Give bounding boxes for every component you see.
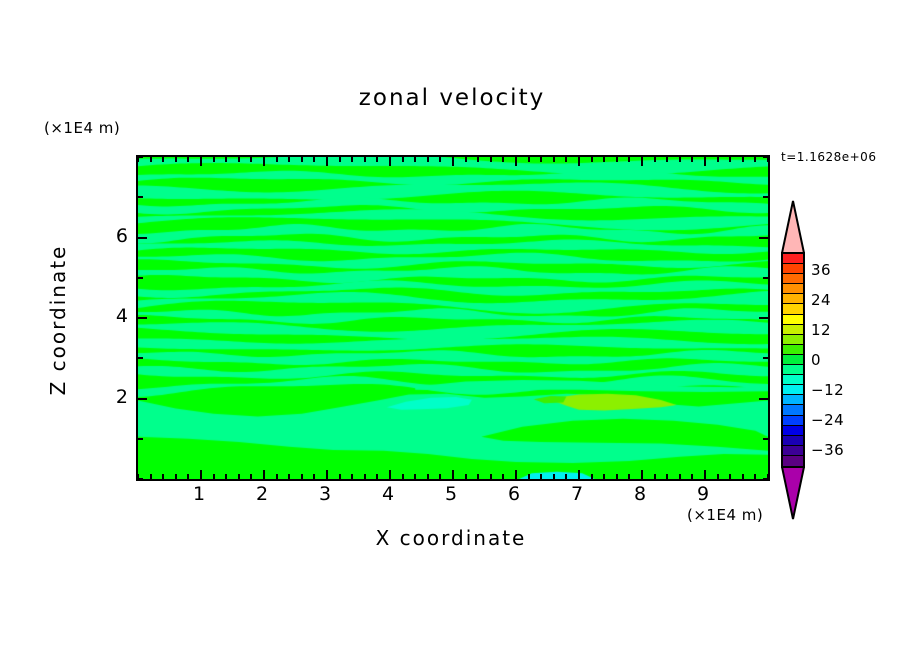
colorbar-band [783,446,803,456]
tick-mark [326,470,328,479]
tick-mark [591,474,593,479]
tick-mark [187,157,189,162]
colorbar-tick-label: 36 [811,261,831,279]
tick-mark [691,157,693,162]
tick-mark [759,398,768,400]
tick-mark [200,157,202,166]
colorbar-tick-label: −24 [811,411,844,429]
colorbar-tick-label: −12 [811,381,844,399]
tick-mark [150,474,152,479]
tick-mark [591,157,593,162]
tick-mark [339,157,341,162]
tick-mark [502,157,504,162]
colorbar-band [783,385,803,395]
colorbar-band [783,254,803,264]
tick-mark [763,478,768,480]
tick-mark [502,474,504,479]
tick-mark [427,157,429,162]
tick-mark [704,470,706,479]
tick-mark [490,474,492,479]
tick-mark [763,438,768,440]
colorbar-band [783,426,803,436]
tick-mark [477,157,479,162]
tick-mark [763,156,768,158]
tick-mark [641,157,643,166]
colorbar-band [783,264,803,274]
colorbar-band [783,345,803,355]
tick-mark [213,474,215,479]
colorbar-band [783,274,803,284]
tick-mark [175,474,177,479]
colorbar-band [783,315,803,325]
tick-mark [704,157,706,166]
tick-mark [452,470,454,479]
tick-mark [679,474,681,479]
tick-mark [616,157,618,162]
tick-mark [276,474,278,479]
x-tick-label: 3 [319,483,331,505]
tick-mark [754,157,756,162]
y-tick-label: 6 [106,225,128,247]
tick-mark [515,470,517,479]
x-tick-label: 8 [634,483,646,505]
tick-mark [138,398,147,400]
tick-mark [263,470,265,479]
colorbar-tick-label: 12 [811,321,831,339]
tick-mark [628,474,630,479]
tick-mark [175,157,177,162]
tick-mark [225,157,227,162]
tick-mark [654,474,656,479]
colorbar-band [783,304,803,314]
tick-mark [742,474,744,479]
tick-mark [616,474,618,479]
tick-mark [477,474,479,479]
tick-mark [759,237,768,239]
tick-mark [465,157,467,162]
tick-mark [717,474,719,479]
timestamp-label: t=1.1628e+06 [781,150,876,164]
colorbar-band [783,335,803,345]
tick-mark [138,277,143,279]
tick-mark [162,157,164,162]
contour-plot-area [136,155,770,481]
colorbar-tick-label: −36 [811,441,844,459]
tick-mark [288,157,290,162]
tick-mark [138,196,143,198]
tick-mark [742,157,744,162]
tick-mark [754,474,756,479]
colorbar-band [783,416,803,426]
colorbar-band [783,355,803,365]
y-tick-label: 4 [106,305,128,327]
tick-mark [439,474,441,479]
colorbar-band [783,405,803,415]
tick-mark [376,474,378,479]
tick-mark [326,157,328,166]
chart-title: zonal velocity [0,85,904,111]
tick-mark [427,474,429,479]
tick-mark [138,156,143,158]
tick-mark [276,157,278,162]
colorbar-under-arrow [781,466,805,520]
tick-mark [389,157,391,166]
tick-mark [628,157,630,162]
colorbar-band [783,284,803,294]
tick-mark [465,474,467,479]
tick-mark [553,157,555,162]
tick-mark [565,157,567,162]
tick-mark [364,157,366,162]
tick-mark [578,470,580,479]
tick-mark [402,157,404,162]
tick-mark [213,157,215,162]
x-axis-unit-label: (×1E4 m) [687,506,763,524]
tick-mark [666,474,668,479]
tick-mark [528,474,530,479]
contour-field [138,157,768,479]
tick-mark [763,357,768,359]
tick-mark [339,474,341,479]
tick-mark [364,474,366,479]
tick-mark [301,474,303,479]
tick-mark [729,157,731,162]
tick-mark [200,470,202,479]
tick-mark [553,474,555,479]
tick-mark [603,157,605,162]
tick-mark [528,157,530,162]
colorbar-band [783,365,803,375]
y-tick-label: 2 [106,386,128,408]
tick-mark [540,474,542,479]
colorbar-band [783,436,803,446]
z-axis-unit-label: (×1E4 m) [44,119,120,137]
tick-mark [288,474,290,479]
colorbar-band [783,395,803,405]
tick-mark [150,157,152,162]
x-tick-label: 1 [193,483,205,505]
x-tick-label: 6 [508,483,520,505]
tick-mark [351,474,353,479]
tick-mark [666,157,668,162]
tick-mark [763,196,768,198]
tick-mark [654,157,656,162]
colorbar-tick-label: 0 [811,351,821,369]
tick-mark [138,478,143,480]
colorbar: 3624120−12−24−36 [781,200,805,520]
tick-mark [452,157,454,166]
tick-mark [603,474,605,479]
tick-mark [439,157,441,162]
tick-mark [238,474,240,479]
x-tick-label: 4 [382,483,394,505]
tick-mark [389,470,391,479]
tick-mark [691,474,693,479]
tick-mark [578,157,580,166]
colorbar-band [783,375,803,385]
tick-mark [402,474,404,479]
tick-mark [351,157,353,162]
colorbar-band [783,294,803,304]
tick-mark [763,277,768,279]
tick-mark [515,157,517,166]
tick-mark [250,474,252,479]
tick-mark [138,237,147,239]
x-tick-label: 7 [571,483,583,505]
tick-mark [376,157,378,162]
z-axis-title: Z coordinate [46,240,70,400]
tick-mark [313,157,315,162]
x-tick-label: 9 [697,483,709,505]
tick-mark [679,157,681,162]
colorbar-band [783,456,803,466]
colorbar-over-arrow [781,200,805,254]
tick-mark [263,157,265,166]
tick-mark [138,357,143,359]
tick-mark [225,474,227,479]
tick-mark [565,474,567,479]
tick-mark [138,438,143,440]
tick-mark [313,474,315,479]
colorbar-bands [781,252,805,468]
tick-mark [138,317,147,319]
tick-mark [490,157,492,162]
tick-mark [729,474,731,479]
tick-mark [250,157,252,162]
tick-mark [187,474,189,479]
colorbar-tick-label: 24 [811,291,831,309]
x-tick-label: 2 [256,483,268,505]
tick-mark [759,317,768,319]
tick-mark [162,474,164,479]
x-tick-label: 5 [445,483,457,505]
tick-mark [301,157,303,162]
tick-mark [238,157,240,162]
colorbar-band [783,325,803,335]
tick-mark [641,470,643,479]
tick-mark [414,474,416,479]
tick-mark [717,157,719,162]
tick-mark [414,157,416,162]
tick-mark [540,157,542,162]
x-axis-title: X coordinate [136,526,766,550]
contour-canvas [138,157,768,479]
